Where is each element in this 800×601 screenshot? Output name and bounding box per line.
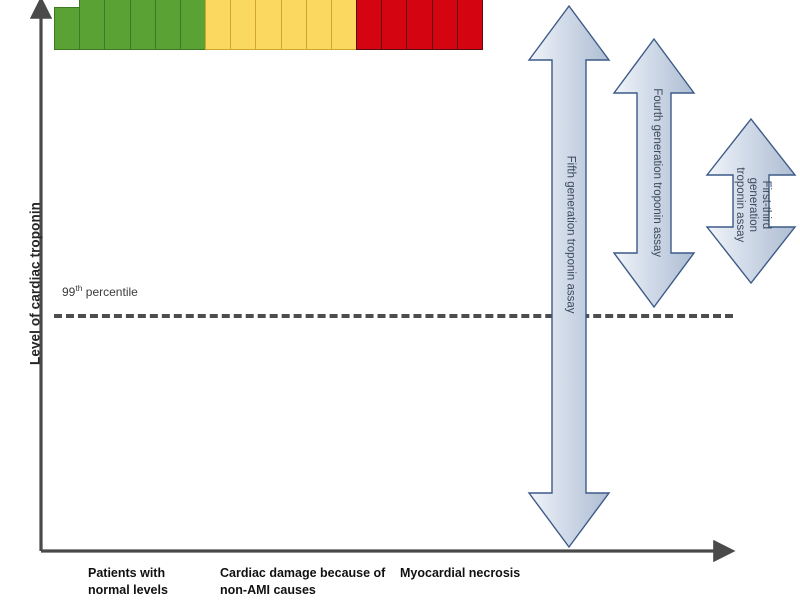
- threshold-label: 99th percentile: [62, 285, 138, 299]
- bar-normal-5: [155, 0, 181, 50]
- bar-necrosis-16: [432, 0, 458, 50]
- category-label-damage-line2: non-AMI causes: [220, 582, 405, 599]
- category-label-normal-line2: normal levels: [88, 582, 208, 599]
- fifth-generation-arrow-label: Fifth generation troponin assay: [563, 130, 576, 340]
- threshold-number: 99: [62, 285, 75, 299]
- first-third-generation-arrow-label-line2: generation: [745, 146, 758, 264]
- bar-necrosis-17: [457, 0, 483, 50]
- category-label-necrosis: Myocardial necrosis: [400, 565, 580, 582]
- threshold-text: percentile: [82, 285, 137, 299]
- bar-damage-8: [230, 0, 256, 50]
- bar-damage-12: [331, 0, 357, 50]
- bar-necrosis-14: [381, 0, 407, 50]
- bar-necrosis-15: [406, 0, 432, 50]
- category-label-normal: Patients with normal levels: [88, 565, 208, 599]
- bar-damage-11: [306, 0, 332, 50]
- first-third-generation-arrow-label-line1: First-third: [759, 146, 772, 264]
- category-label-normal-line1: Patients with: [88, 565, 208, 582]
- bar-normal-2: [79, 0, 105, 50]
- bar-necrosis-13: [356, 0, 382, 50]
- first-third-generation-arrow-label: First-third generation troponin assay: [732, 146, 772, 264]
- bar-normal-3: [104, 0, 130, 50]
- bar-normal-4: [130, 0, 156, 50]
- bar-normal-6: [180, 0, 206, 50]
- bar-damage-9: [255, 0, 281, 50]
- bar-normal-1: [54, 7, 80, 50]
- bar-damage-10: [281, 0, 307, 50]
- category-label-necrosis-line1: Myocardial necrosis: [400, 565, 580, 582]
- bar-damage-7: [205, 0, 231, 50]
- chart-figure: Level of cardiac troponin 99th percentil…: [0, 0, 800, 601]
- category-label-damage: Cardiac damage because of non-AMI causes: [220, 565, 405, 599]
- category-label-damage-line1: Cardiac damage because of: [220, 565, 405, 582]
- threshold-line: [54, 314, 733, 318]
- first-third-generation-arrow-label-line3: troponin assay: [732, 146, 745, 264]
- fourth-generation-arrow-label: Fourth generation troponin assay: [650, 65, 663, 280]
